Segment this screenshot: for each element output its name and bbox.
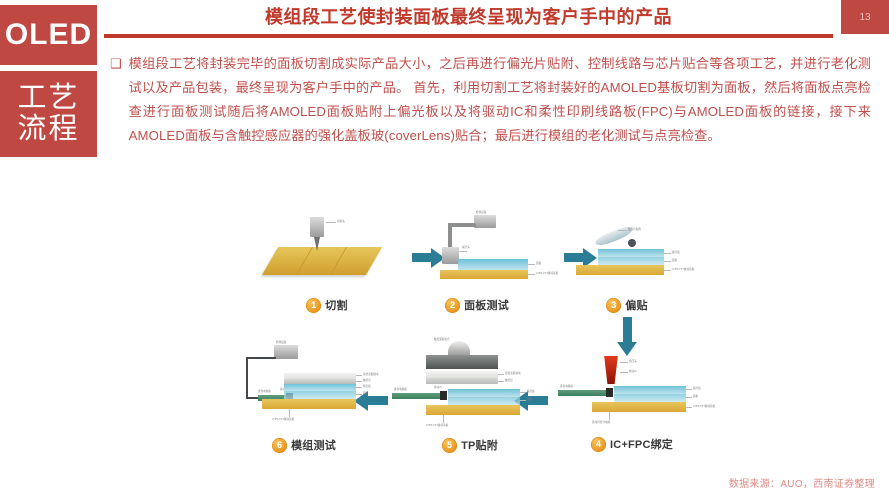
press-bar <box>426 355 498 369</box>
panel-layer <box>284 391 356 399</box>
test-cable-horizontal <box>246 357 276 359</box>
step-2-number: 2 <box>445 298 460 313</box>
panel-lead <box>520 400 526 401</box>
step-3-label: 偏贴 <box>625 297 647 313</box>
annotation-cutter-head: 切割头 <box>337 219 345 223</box>
step-4-number: 4 <box>591 437 606 452</box>
probe-arm-vertical <box>448 223 452 249</box>
step-6-label: 模组测试 <box>291 437 336 453</box>
annotation-panel: 面板 <box>536 261 541 265</box>
ltps-tft-glass-layer <box>576 265 664 275</box>
annotation-test-equipment: 检测设备 <box>476 210 486 214</box>
step-3-number: 3 <box>606 298 621 313</box>
arrow-shaft <box>623 317 632 343</box>
process-step-1: 切割头 1 切割 <box>252 215 402 313</box>
step-6-number: 6 <box>272 438 287 453</box>
test-equipment-box <box>474 215 496 228</box>
panel-layer <box>598 257 664 265</box>
step-1-caption: 1 切割 <box>252 297 402 313</box>
probe-arm <box>448 223 476 227</box>
annotation-polarizer-plate: 偏光板 <box>693 386 701 390</box>
step-6-illustration: 检测设备 柔性电路板 驱动IC LTPS-TFT玻璃基板 强化盖板玻璃 触控层 … <box>224 343 384 427</box>
substrate-plate <box>262 247 382 275</box>
polarizer-lead <box>664 253 671 254</box>
polarizer-annotation-line <box>618 230 627 231</box>
polarizer-layer <box>614 386 686 394</box>
polarizer-lead <box>356 387 362 388</box>
acf-lead <box>609 412 610 420</box>
annotation-touch-layer: 触控层 <box>363 378 371 382</box>
driver-ic-chip <box>440 391 447 400</box>
bullet-square-icon: ❑ <box>110 52 122 148</box>
annotation-probe-head: 探针头 <box>462 245 470 249</box>
bonding-head-lead <box>620 362 628 363</box>
process-step-5: 触控面板贴合 强化盖板玻璃 触控层 柔性电路板 驱动IC LTPS-TFT玻璃基… <box>390 337 550 453</box>
step-5-illustration: 触控面板贴合 强化盖板玻璃 触控层 柔性电路板 驱动IC LTPS-TFT玻璃基… <box>390 337 550 427</box>
annotation-polarizer-plate: 偏光板 <box>363 384 371 388</box>
sidebar: OLED 工艺 流程 <box>0 0 97 185</box>
step-6-caption: 6 模组测试 <box>224 437 384 453</box>
cover-lens-layer <box>426 371 498 378</box>
annotation-acf: LTPS-TFT玻璃基板 <box>426 423 448 427</box>
polarizer-lead <box>520 392 526 393</box>
process-step-3: 偏光片贴附 偏光板 面板 LTPS-TFT玻璃基板 3 偏贴 <box>552 215 702 313</box>
title-area: 模组段工艺使封装面板最终呈现为客户手中的产品 <box>104 6 833 38</box>
cover-lens-lead <box>498 374 504 375</box>
step-2-caption: 2 面板测试 <box>402 297 552 313</box>
step-2-illustration: 检测设备 探针头 面板 LTPS-TFT玻璃基板 <box>402 215 552 287</box>
sidebar-brand-block: OLED <box>0 5 97 65</box>
step-3-caption: 3 偏贴 <box>552 297 702 313</box>
annotation-flexible-pcb: 柔性电路板 <box>258 389 271 393</box>
annotation-driver-ic: 驱动IC <box>629 369 637 373</box>
step-2-label: 面板测试 <box>464 297 509 313</box>
driver-ic-chip <box>606 388 613 397</box>
step-4-label: IC+FPC绑定 <box>610 436 673 452</box>
panel-layer <box>614 394 686 402</box>
step-5-caption: 5 TP贴附 <box>390 437 550 453</box>
cutter-tip <box>314 237 320 251</box>
step-4-illustration: 热压头 驱动IC 柔性电路板 各向异性导电膜 偏光板 面板 LTPS-TFT玻璃… <box>552 350 712 426</box>
annotation-test-equipment: 检测设备 <box>276 340 286 344</box>
probe-annotation-line <box>459 251 467 252</box>
flexible-pcb-strip <box>558 390 608 396</box>
annotation-polarizer-plate: 偏光板 <box>527 389 535 393</box>
panel-lead <box>664 261 671 262</box>
acf-lead <box>443 415 444 423</box>
polarizer-layer <box>598 249 664 257</box>
step-3-illustration: 偏光片贴附 偏光板 面板 LTPS-TFT玻璃基板 <box>552 215 702 287</box>
step-4-caption: 4 IC+FPC绑定 <box>552 436 712 452</box>
annotation-cover-lens: 强化盖板玻璃 <box>363 372 379 376</box>
flexible-pcb-strip <box>392 393 442 399</box>
touch-sensor-layer <box>426 378 498 384</box>
polarizer-lead <box>686 389 692 390</box>
glass-lead <box>664 270 671 271</box>
test-cable-vertical <box>246 357 248 399</box>
panel-lead <box>686 397 692 398</box>
annotation-thermal-head: 热压头 <box>629 359 637 363</box>
process-step-6: 检测设备 柔性电路板 驱动IC LTPS-TFT玻璃基板 强化盖板玻璃 触控层 … <box>224 343 384 453</box>
annotation-ltps-glass: LTPS-TFT玻璃基板 <box>693 404 715 408</box>
step-1-number: 1 <box>306 298 321 313</box>
step-5-number: 5 <box>442 438 457 453</box>
panel-lead <box>356 394 362 395</box>
driver-ic-lead <box>620 372 628 373</box>
sidebar-subtitle-line2: 流程 <box>17 114 79 145</box>
glass-annotation-line <box>528 274 535 275</box>
touch-layer-lead <box>498 381 504 382</box>
annotation-ltps-glass: LTPS-TFT玻璃基板 <box>672 267 694 271</box>
thermal-bonding-head <box>602 356 620 384</box>
annotation-flexible-pcb: 柔性电路板 <box>560 384 573 388</box>
cutter-head-body <box>310 217 324 237</box>
page-title: 模组段工艺使封装面板最终呈现为客户手中的产品 <box>104 6 833 29</box>
sidebar-subtitle-block: 工艺 流程 <box>0 71 97 157</box>
annotation-panel: 面板 <box>527 397 532 401</box>
cutter-annotation-line <box>326 222 336 223</box>
brand-label: OLED <box>5 20 92 50</box>
annotation-touch-bonding: 触控面板贴合 <box>434 337 450 341</box>
panel-annotation-line <box>528 264 535 265</box>
annotation-panel: 面板 <box>672 258 677 262</box>
body-paragraph-block: ❑ 模组段工艺将封装完毕的面板切割成实际产品大小，之后再进行偏光片贴附、控制线路… <box>110 52 871 148</box>
body-paragraph: 模组段工艺将封装完毕的面板切割成实际产品大小，之后再进行偏光片贴附、控制线路与芯… <box>129 52 871 148</box>
process-flow-diagram: 切割头 1 切割 检测设备 探针头 面板 LTPS-TFT玻璃基板 <box>112 205 872 470</box>
acf-lead <box>289 409 290 417</box>
ltps-tft-glass-layer <box>262 399 356 409</box>
probe-head <box>442 247 459 264</box>
annotation-driver-ic: 驱动IC <box>434 385 442 389</box>
panel-layer <box>458 259 528 270</box>
ltps-tft-glass-layer <box>426 405 520 415</box>
annotation-panel: 面板 <box>693 394 698 398</box>
annotation-polarizer-attach: 偏光片贴附 <box>628 227 641 231</box>
polarizer-layer <box>284 384 356 391</box>
annotation-panel: 面板 <box>363 391 368 395</box>
step-5-label: TP贴附 <box>461 437 498 453</box>
annotation-flexible-pcb: 柔性电路板 <box>394 387 407 391</box>
page-number-badge: 13 <box>841 0 889 34</box>
touch-panel-bonding-tool <box>448 341 470 355</box>
glass-lead <box>686 407 692 408</box>
annotation-acf: LTPS-TFT玻璃基板 <box>272 417 294 421</box>
ltps-tft-glass-layer <box>440 270 528 279</box>
test-equipment-box <box>274 345 298 359</box>
panel-layer <box>448 397 520 405</box>
annotation-acf: 各向异性导电膜 <box>592 420 610 424</box>
process-step-2: 检测设备 探针头 面板 LTPS-TFT玻璃基板 2 面板测试 <box>402 215 552 313</box>
annotation-touch-layer: 触控层 <box>505 378 513 382</box>
annotation-cover-lens: 强化盖板玻璃 <box>505 371 521 375</box>
step-1-label: 切割 <box>325 297 347 313</box>
title-divider <box>104 34 833 38</box>
sidebar-subtitle-line1: 工艺 <box>17 83 79 114</box>
polarizer-roller <box>628 239 636 247</box>
polarizer-layer <box>448 389 520 397</box>
step-1-illustration: 切割头 <box>252 215 402 287</box>
cover-lens-lead <box>356 375 362 376</box>
ltps-tft-glass-layer <box>592 402 686 412</box>
annotation-polarizer-plate: 偏光板 <box>672 250 680 254</box>
source-note: 数据来源：AUO，西南证券整理 <box>729 475 875 490</box>
process-step-4: 热压头 驱动IC 柔性电路板 各向异性导电膜 偏光板 面板 LTPS-TFT玻璃… <box>552 350 712 452</box>
touch-layer-lead <box>356 381 362 382</box>
